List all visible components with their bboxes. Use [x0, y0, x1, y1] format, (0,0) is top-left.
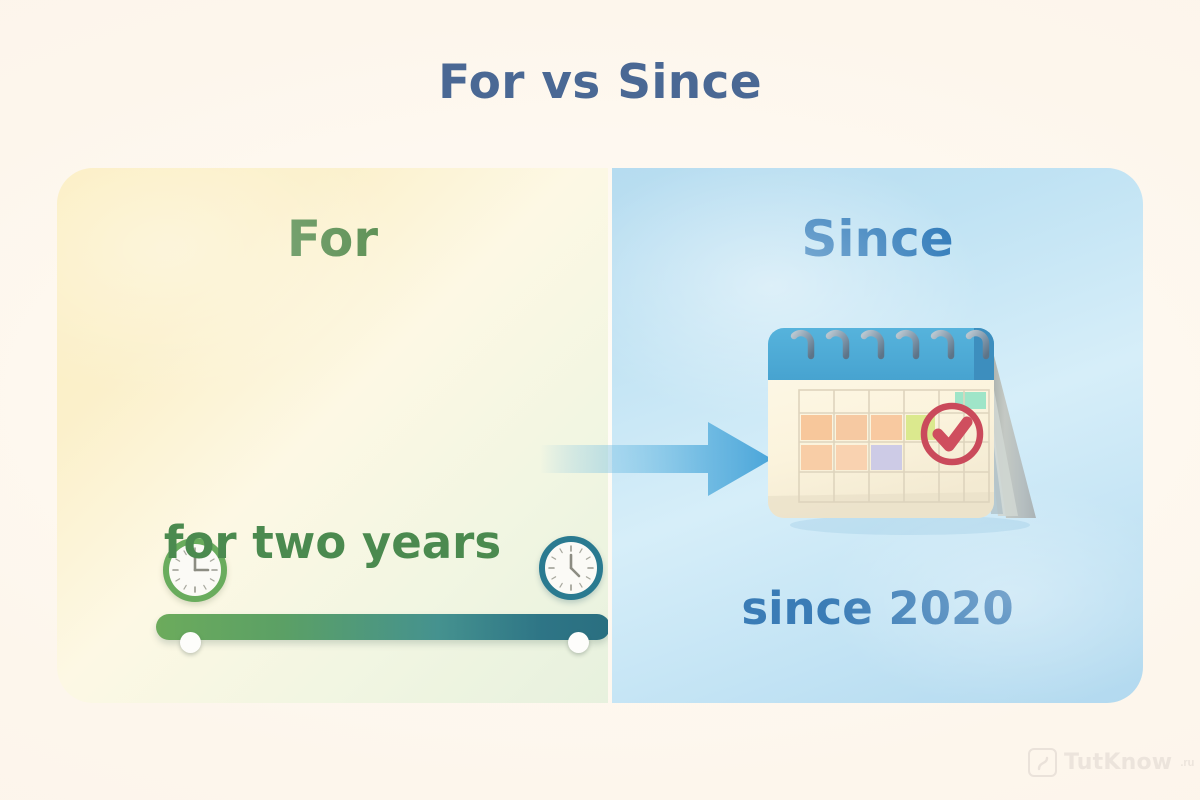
duration-bar-start-knob[interactable]: [180, 632, 201, 653]
for-panel: For: [57, 168, 608, 703]
tutknow-tld: .ru: [1180, 757, 1194, 769]
page-title: For vs Since: [0, 55, 1200, 110]
duration-bar: [156, 614, 608, 640]
since-caption: since 2020: [612, 582, 1143, 635]
since-heading: Since: [612, 210, 1143, 268]
for-caption: for two years: [57, 516, 608, 569]
for-heading: For: [57, 210, 608, 268]
calendar-illustration: [760, 300, 1060, 535]
duration-bar-end-knob[interactable]: [568, 632, 589, 653]
tutknow-label: TutKnow: [1064, 750, 1172, 775]
illustration-canvas: For vs Since For: [0, 0, 1200, 800]
tutknow-logo-icon: [1028, 748, 1057, 777]
tutknow-watermark: TutKnow .ru: [1028, 748, 1194, 777]
transition-arrow-icon: [540, 416, 772, 502]
